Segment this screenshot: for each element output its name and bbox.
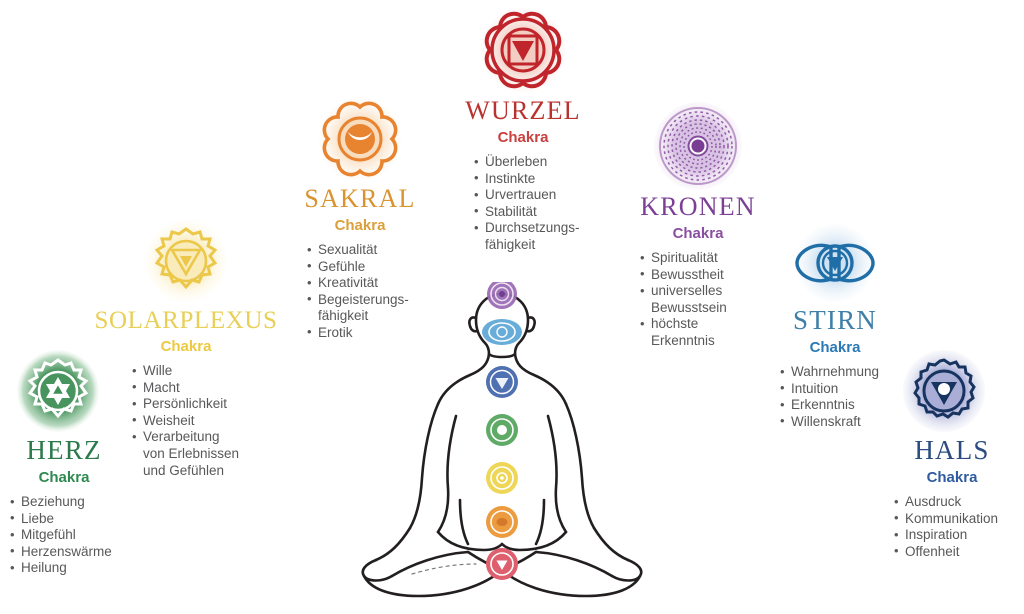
sacral-chakra-icon-wrap xyxy=(280,96,440,182)
meditating-figure xyxy=(352,282,652,607)
third-eye-chakra-icon-wrap xyxy=(760,222,910,304)
list-item: Durchsetzungs- fähigkeit xyxy=(474,220,608,253)
body-chakra-heart xyxy=(486,414,518,446)
list-item: Beziehung xyxy=(10,494,160,511)
chakra-title-hals: HALS xyxy=(882,437,1022,464)
heart-chakra-icon-wrap xyxy=(2,348,126,434)
crown-chakra-icon xyxy=(612,100,784,192)
body-chakra-solar-plexus xyxy=(486,462,518,494)
root-chakra-icon xyxy=(438,6,608,94)
list-item: Weisheit xyxy=(132,413,284,430)
body-chakra-sacral xyxy=(486,506,518,538)
list-item: Verarbeitung von Erlebnissen und Gefühle… xyxy=(132,429,284,479)
body-chakra-points xyxy=(482,282,522,580)
list-item: Liebe xyxy=(10,511,160,528)
heart-chakra-icon xyxy=(2,348,126,434)
list-item: Offenheit xyxy=(894,544,1024,561)
chakra-subtitle-herz: Chakra xyxy=(2,470,126,485)
body-chakra-root xyxy=(486,548,518,580)
list-item: Gefühle xyxy=(307,259,440,276)
list-item: Mitgefühl xyxy=(10,527,160,544)
list-item: Kommunikation xyxy=(894,511,1024,528)
list-item: Macht xyxy=(132,380,284,397)
chakra-subtitle-wurzel: Chakra xyxy=(438,130,608,145)
chakra-title-wurzel: WURZEL xyxy=(438,98,608,124)
crown-chakra-icon-wrap xyxy=(612,100,784,192)
chakra-block-hals: HALS Chakra Ausdruck Kommunikation Inspi… xyxy=(882,348,1022,560)
list-item: Herzenswärme xyxy=(10,544,160,561)
list-item: Instinkte xyxy=(474,171,608,188)
body-chakra-third-eye xyxy=(482,319,522,345)
list-item: Persönlichkeit xyxy=(132,396,284,413)
chakra-title-herz: HERZ xyxy=(2,437,126,464)
list-item: Ausdruck xyxy=(894,494,1024,511)
chakra-title-solarplexus: SOLARPLEXUS xyxy=(88,308,284,333)
meditating-figure-svg xyxy=(352,282,652,602)
root-chakra-icon-wrap xyxy=(438,6,608,94)
list-item: Sexualität xyxy=(307,242,440,259)
chakra-subtitle-hals: Chakra xyxy=(882,470,1022,485)
body-chakra-throat xyxy=(486,366,518,398)
list-item: Inspiration xyxy=(894,527,1024,544)
sacral-chakra-icon xyxy=(280,96,440,182)
list-item: Wille xyxy=(132,363,284,380)
solar-plexus-chakra-icon-wrap xyxy=(88,218,284,304)
chakra-title-stirn: STIRN xyxy=(760,307,910,334)
list-item: Heilung xyxy=(10,560,160,577)
chakra-title-sakral: SAKRAL xyxy=(280,186,440,212)
chakra-infographic: WURZEL Chakra Überleben Instinkte Urvert… xyxy=(0,0,1024,614)
body-chakra-crown xyxy=(487,282,517,309)
solar-plexus-chakra-icon xyxy=(88,218,284,304)
chakra-subtitle-sakral: Chakra xyxy=(280,218,440,233)
chakra-list-wurzel: Überleben Instinkte Urvertrauen Stabilit… xyxy=(474,154,608,254)
throat-chakra-icon xyxy=(882,348,1022,434)
chakra-block-wurzel: WURZEL Chakra Überleben Instinkte Urvert… xyxy=(438,6,608,254)
chakra-list-herz: Beziehung Liebe Mitgefühl Herzenswärme H… xyxy=(10,494,160,577)
chakra-list-hals: Ausdruck Kommunikation Inspiration Offen… xyxy=(894,494,1024,560)
chakra-list-solarplexus: Wille Macht Persönlichkeit Weisheit Vera… xyxy=(132,363,284,479)
chakra-block-herz: HERZ Chakra Beziehung Liebe Mitgefühl He… xyxy=(2,348,126,577)
chakra-title-kronen: KRONEN xyxy=(612,194,784,220)
list-item: Stabilität xyxy=(474,204,608,221)
third-eye-chakra-icon xyxy=(760,222,910,304)
chakra-subtitle-kronen: Chakra xyxy=(612,226,784,241)
throat-chakra-icon-wrap xyxy=(882,348,1022,434)
list-item: Urvertrauen xyxy=(474,187,608,204)
list-item: Überleben xyxy=(474,154,608,171)
